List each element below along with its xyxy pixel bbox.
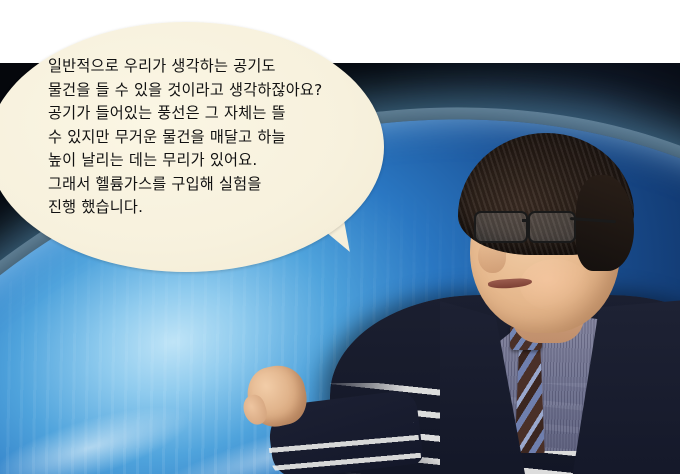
eyeglasses <box>472 211 614 241</box>
eyeglass-lens-left <box>474 211 528 243</box>
eyeglass-lens-right <box>528 211 576 243</box>
cheek-highlight <box>520 259 590 311</box>
person-subject <box>400 83 680 474</box>
eyeglass-bridge <box>522 219 530 222</box>
eyeglass-temple <box>570 217 616 223</box>
speech-bubble-text: 일반적으로 우리가 생각하는 공기도 물건을 들 수 있을 것이라고 생각하잖아… <box>48 55 378 220</box>
screenshot-frame: 전자 MSUNG TOMORROW 녹동고등학교 과학교사 김 상 훈 일반적으… <box>0 0 680 474</box>
